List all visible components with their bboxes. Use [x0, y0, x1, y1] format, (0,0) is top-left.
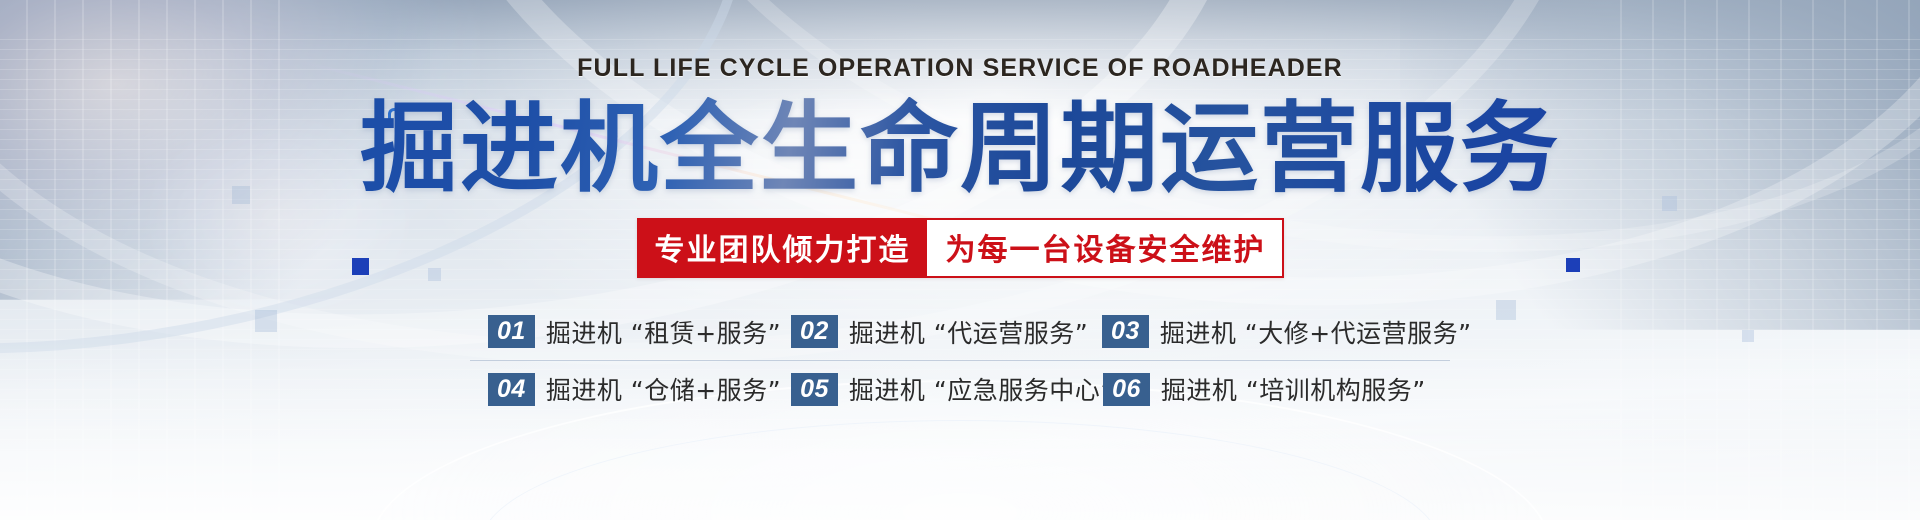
- service-list: 01 掘进机 “租赁+服务” 02 掘进机 “代运营服务” 03 掘进机 “大修…: [470, 304, 1450, 418]
- service-label: 掘进机 “租赁+服务”: [546, 314, 781, 350]
- slogan-banner: 专业团队倾力打造 为每一台设备安全维护: [637, 218, 1284, 278]
- slogan-left: 专业团队倾力打造: [639, 220, 927, 276]
- service-number-badge: 01: [488, 315, 535, 348]
- service-label: 掘进机 “仓储+服务”: [546, 371, 781, 407]
- english-subtitle: FULL LIFE CYCLE OPERATION SERVICE OF ROA…: [577, 54, 1343, 83]
- service-number-badge: 03: [1102, 315, 1149, 348]
- service-label: 掘进机 “应急服务中心”: [849, 371, 1114, 407]
- service-item-02[interactable]: 02 掘进机 “代运营服务”: [791, 314, 1102, 350]
- service-label: 掘进机 “培训机构服务”: [1161, 371, 1426, 407]
- banner-content: FULL LIFE CYCLE OPERATION SERVICE OF ROA…: [0, 0, 1920, 520]
- service-row-1: 01 掘进机 “租赁+服务” 02 掘进机 “代运营服务” 03 掘进机 “大修…: [470, 304, 1450, 361]
- service-item-06[interactable]: 06 掘进机 “培训机构服务”: [1103, 371, 1450, 407]
- banner-hero: FULL LIFE CYCLE OPERATION SERVICE OF ROA…: [0, 0, 1920, 520]
- service-item-01[interactable]: 01 掘进机 “租赁+服务”: [470, 314, 791, 350]
- service-number-badge: 06: [1103, 373, 1150, 406]
- service-number-badge: 05: [791, 373, 838, 406]
- page-title: 掘进机全生命周期运营服务: [360, 97, 1560, 200]
- service-item-04[interactable]: 04 掘进机 “仓储+服务”: [470, 371, 791, 407]
- slogan-right: 为每一台设备安全维护: [927, 220, 1282, 276]
- service-label: 掘进机 “代运营服务”: [849, 314, 1088, 350]
- service-row-2: 04 掘进机 “仓储+服务” 05 掘进机 “应急服务中心” 06 掘进机 “培…: [470, 361, 1450, 418]
- service-number-badge: 04: [488, 373, 535, 406]
- service-label: 掘进机 “大修+代运营服务”: [1160, 314, 1472, 350]
- service-number-badge: 02: [791, 315, 838, 348]
- service-item-05[interactable]: 05 掘进机 “应急服务中心”: [791, 371, 1103, 407]
- service-item-03[interactable]: 03 掘进机 “大修+代运营服务”: [1102, 314, 1450, 350]
